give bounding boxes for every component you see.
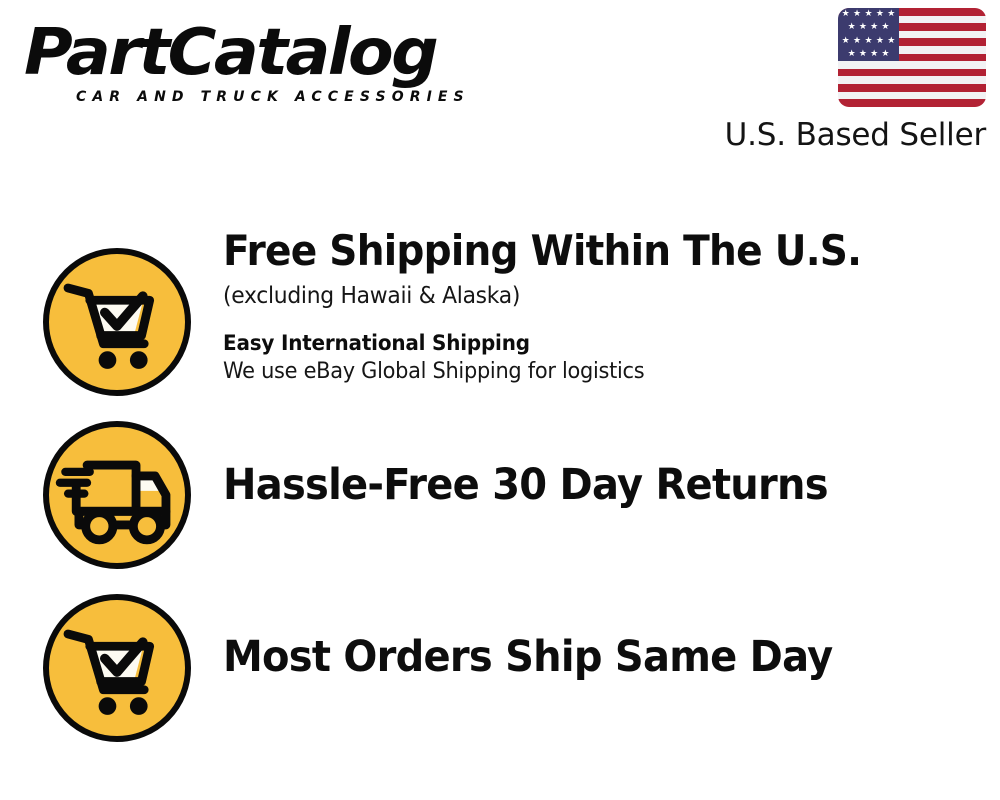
seller-info-banner: PartCatalog CAR AND TRUCK ACCESSORIES ★★… (0, 0, 1000, 800)
us-based-seller-badge: ★★★★★ ★★★★ ★★★★★ ★★★★ U.S. Based Seller (716, 8, 986, 153)
seller-badge-label: U.S. Based Seller (716, 117, 986, 153)
feature-text: Most Orders Ship Same Day (223, 572, 878, 680)
brand-tagline: CAR AND TRUCK ACCESSORIES (76, 89, 494, 105)
feature-text: Hassle-Free 30 Day Returns (223, 400, 873, 508)
shopping-cart-check-icon (43, 594, 191, 742)
feature-row: Most Orders Ship Same Day (0, 572, 1000, 742)
feature-text: Free Shipping Within The U.S. (excluding… (223, 228, 909, 386)
flag-canton: ★★★★★ ★★★★ ★★★★★ ★★★★ (838, 8, 899, 61)
feature-row: Hassle-Free 30 Day Returns (0, 400, 1000, 572)
feature-subline: (excluding Hawaii & Alaska) (223, 281, 875, 311)
feature-headline: Most Orders Ship Same Day (223, 634, 832, 680)
feature-subdetail: We use eBay Global Shipping for logistic… (223, 357, 875, 386)
feature-subhead: Easy International Shipping (223, 329, 875, 357)
brand-wordmark: PartCatalog (24, 18, 513, 88)
shopping-cart-check-icon (43, 248, 191, 396)
feature-headline: Free Shipping Within The U.S. (223, 228, 861, 274)
feature-headline: Hassle-Free 30 Day Returns (223, 462, 828, 508)
feature-list: Free Shipping Within The U.S. (excluding… (0, 228, 1000, 742)
delivery-truck-icon (43, 421, 191, 569)
brand-logo: PartCatalog CAR AND TRUCK ACCESSORIES (24, 18, 494, 118)
feature-row: Free Shipping Within The U.S. (excluding… (0, 228, 1000, 400)
us-flag-icon: ★★★★★ ★★★★ ★★★★★ ★★★★ (838, 8, 986, 107)
